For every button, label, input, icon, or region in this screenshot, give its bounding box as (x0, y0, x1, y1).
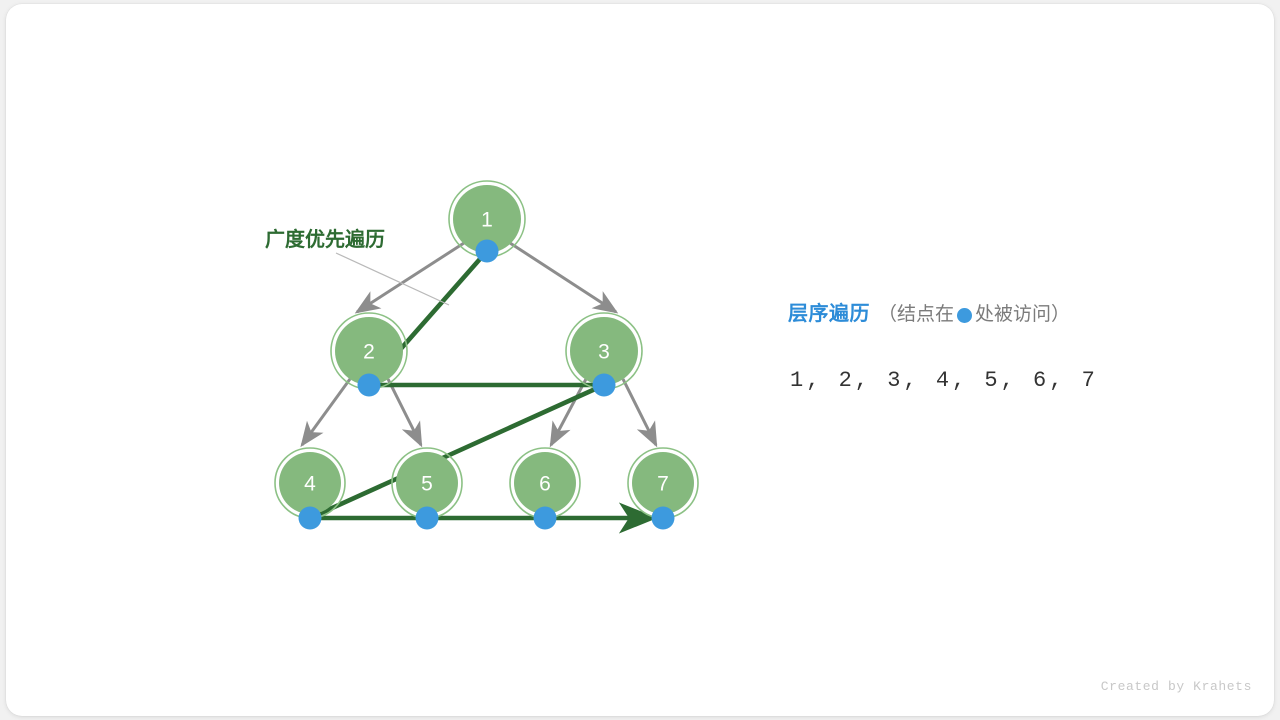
tree-edge-2-5 (388, 379, 421, 445)
visit-dot-icon-1[interactable] (476, 240, 499, 263)
node-label: 4 (304, 473, 316, 496)
traversal-sequence: 1, 2, 3, 4, 5, 6, 7 (790, 368, 1098, 393)
legend-subtitle: （结点在 处被访问） (878, 305, 1070, 324)
visit-dot-icon (957, 308, 972, 323)
tree-edge-3-7 (623, 379, 656, 445)
node-label: 6 (539, 473, 551, 496)
node-label: 5 (421, 473, 433, 496)
binary-tree-bfs-diagram: 1 2 3 4 (6, 4, 1274, 716)
visit-dot-icon-2[interactable] (358, 374, 381, 397)
visit-dot-icon-3[interactable] (593, 374, 616, 397)
visit-dot-icon-6[interactable] (534, 507, 557, 530)
slide-card: 1 2 3 4 (6, 4, 1274, 716)
node-label: 3 (598, 341, 610, 364)
node-label: 2 (363, 341, 375, 364)
legend-subtitle-suffix: 处被访问） (975, 305, 1070, 324)
diagram-stage: 1 2 3 4 (6, 4, 1274, 716)
tree-edge-1-2 (357, 243, 464, 312)
legend-heading-row: 层序遍历 （结点在 处被访问） (788, 304, 1228, 324)
legend-panel: 层序遍历 （结点在 处被访问） (788, 304, 1228, 324)
legend-title: 层序遍历 (788, 304, 870, 324)
tree-edge-1-3 (510, 243, 616, 312)
bfs-annotation-label: 广度优先遍历 (265, 227, 385, 251)
tree-edge-2-4 (302, 379, 350, 445)
visit-dot-icon-5[interactable] (416, 507, 439, 530)
tree-edge-3-6 (551, 379, 586, 445)
bfs-label-leader-line (336, 253, 449, 305)
visit-dot-icon-7[interactable] (652, 507, 675, 530)
legend-subtitle-prefix: （结点在 (878, 305, 954, 324)
visit-dot-icon-4[interactable] (299, 507, 322, 530)
node-label: 1 (481, 209, 493, 232)
footer-credit: Created by Krahets (1101, 679, 1252, 694)
node-label: 7 (657, 473, 669, 496)
